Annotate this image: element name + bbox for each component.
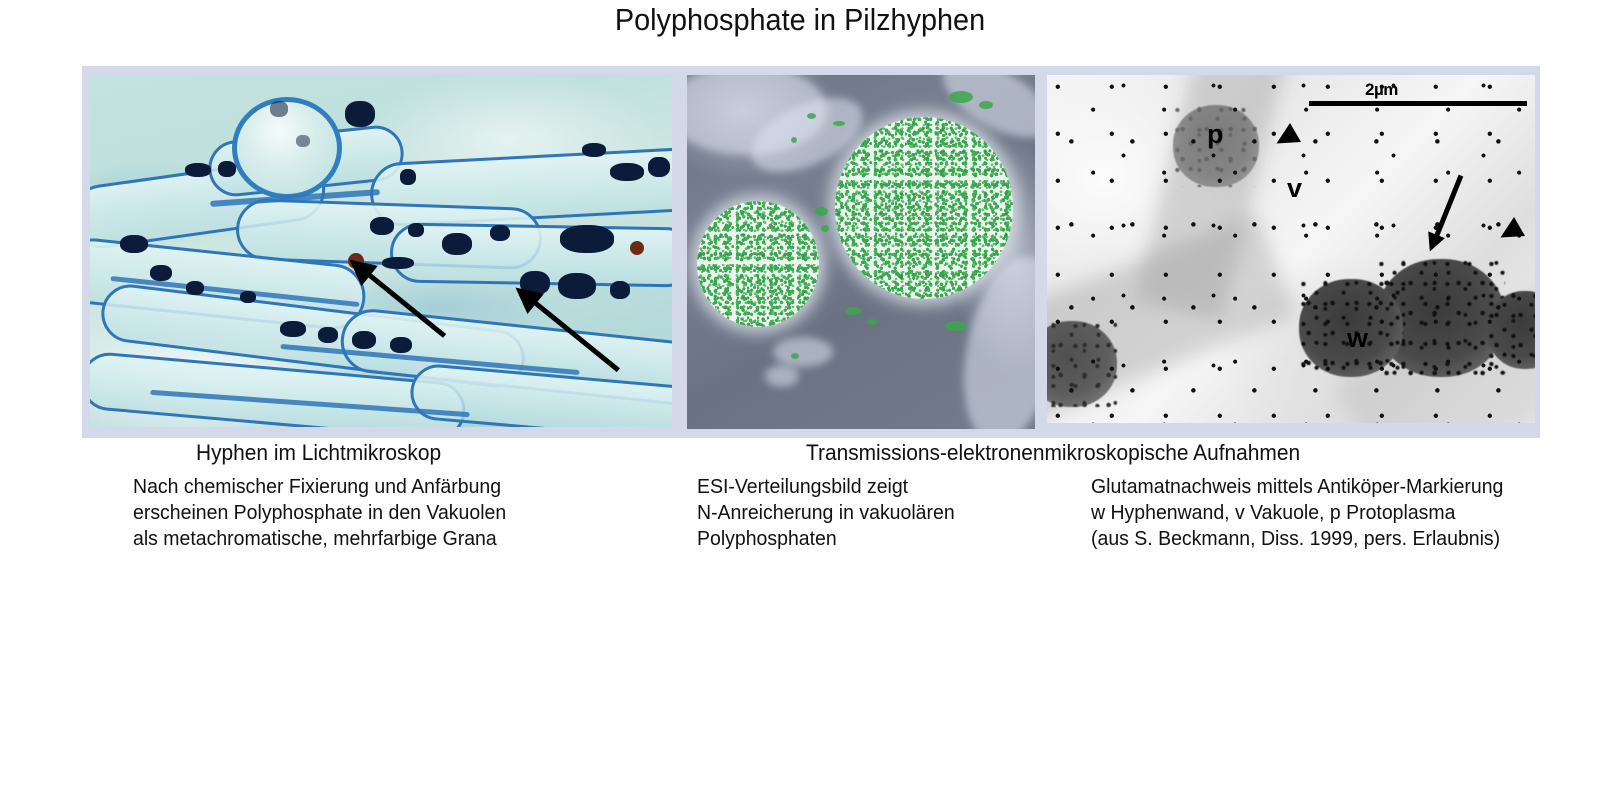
grana	[296, 135, 310, 147]
caption-line: Nach chemischer Fixierung und Anfärbung	[133, 474, 501, 500]
panel-esi-map	[687, 75, 1035, 429]
panel-light-microscope	[90, 75, 672, 427]
label-hyphenwand: w	[1347, 325, 1368, 352]
label-protoplasma: p	[1207, 121, 1224, 148]
caption-line: Glutamatnachweis mittels Antiköper-Marki…	[1091, 474, 1503, 500]
caption-heading-light: Hyphen im Lichtmikroskop	[196, 440, 441, 466]
grana	[280, 321, 306, 337]
label-vakuole: v	[1287, 175, 1302, 202]
caption-line: N-Anreicherung in vakuolären	[697, 500, 955, 526]
grana	[582, 143, 606, 157]
cell-wisp	[765, 365, 799, 387]
caption-line: (aus S. Beckmann, Diss. 1999, pers. Erla…	[1091, 526, 1500, 552]
caption-line: w Hyphenwand, v Vakuole, p Protoplasma	[1091, 500, 1455, 526]
signal-fleck	[807, 113, 816, 119]
grana	[560, 225, 614, 253]
scale-bar	[1309, 101, 1527, 106]
grana	[610, 163, 644, 181]
cell-wisp	[773, 337, 833, 367]
caption-line: als metachromatische, mehrfarbige Grana	[133, 526, 497, 552]
signal-fleck	[949, 91, 973, 103]
grana	[270, 101, 288, 117]
signal-fleck	[791, 353, 799, 359]
signal-fleck	[815, 207, 828, 216]
grana	[150, 265, 172, 281]
figure-band: 2µm p v w	[82, 66, 1540, 438]
signal-fleck	[791, 137, 797, 143]
grana	[442, 233, 472, 255]
grana	[120, 235, 148, 253]
signal-fleck	[845, 307, 861, 315]
caption-line: erscheinen Polyphosphate in den Vakuolen	[133, 500, 506, 526]
grana	[648, 157, 670, 177]
grana	[240, 291, 256, 303]
grana	[490, 225, 510, 241]
grana	[370, 217, 394, 235]
grana	[408, 223, 424, 237]
vacuole-small	[697, 201, 819, 327]
panel-tem-immunogold: 2µm p v w	[1047, 75, 1535, 423]
nitrogen-signal-fine	[835, 117, 1013, 299]
grana	[400, 169, 416, 185]
grana-red	[630, 241, 644, 255]
grana	[218, 161, 236, 177]
signal-fleck	[833, 121, 845, 126]
caption-line: ESI-Verteilungsbild zeigt	[697, 474, 908, 500]
signal-fleck	[945, 321, 967, 331]
caption-heading-tem: Transmissions-elektronenmikroskopische A…	[806, 440, 1300, 466]
grana	[186, 281, 204, 295]
grana	[345, 101, 375, 127]
signal-fleck	[821, 225, 829, 232]
grana	[390, 337, 412, 353]
nitrogen-signal-fine	[697, 201, 819, 327]
signal-fleck	[979, 101, 993, 109]
page-title: Polyphosphate in Pilzhyphen	[56, 2, 1544, 38]
grana	[610, 281, 630, 299]
vacuole-large	[835, 117, 1013, 299]
signal-fleck	[867, 319, 877, 325]
grana	[185, 163, 211, 177]
grana	[352, 331, 376, 349]
scale-bar-label: 2µm	[1365, 80, 1398, 100]
grana	[558, 273, 596, 299]
grana	[382, 257, 414, 269]
grana	[318, 327, 338, 343]
caption-line: Polyphosphaten	[697, 526, 837, 552]
